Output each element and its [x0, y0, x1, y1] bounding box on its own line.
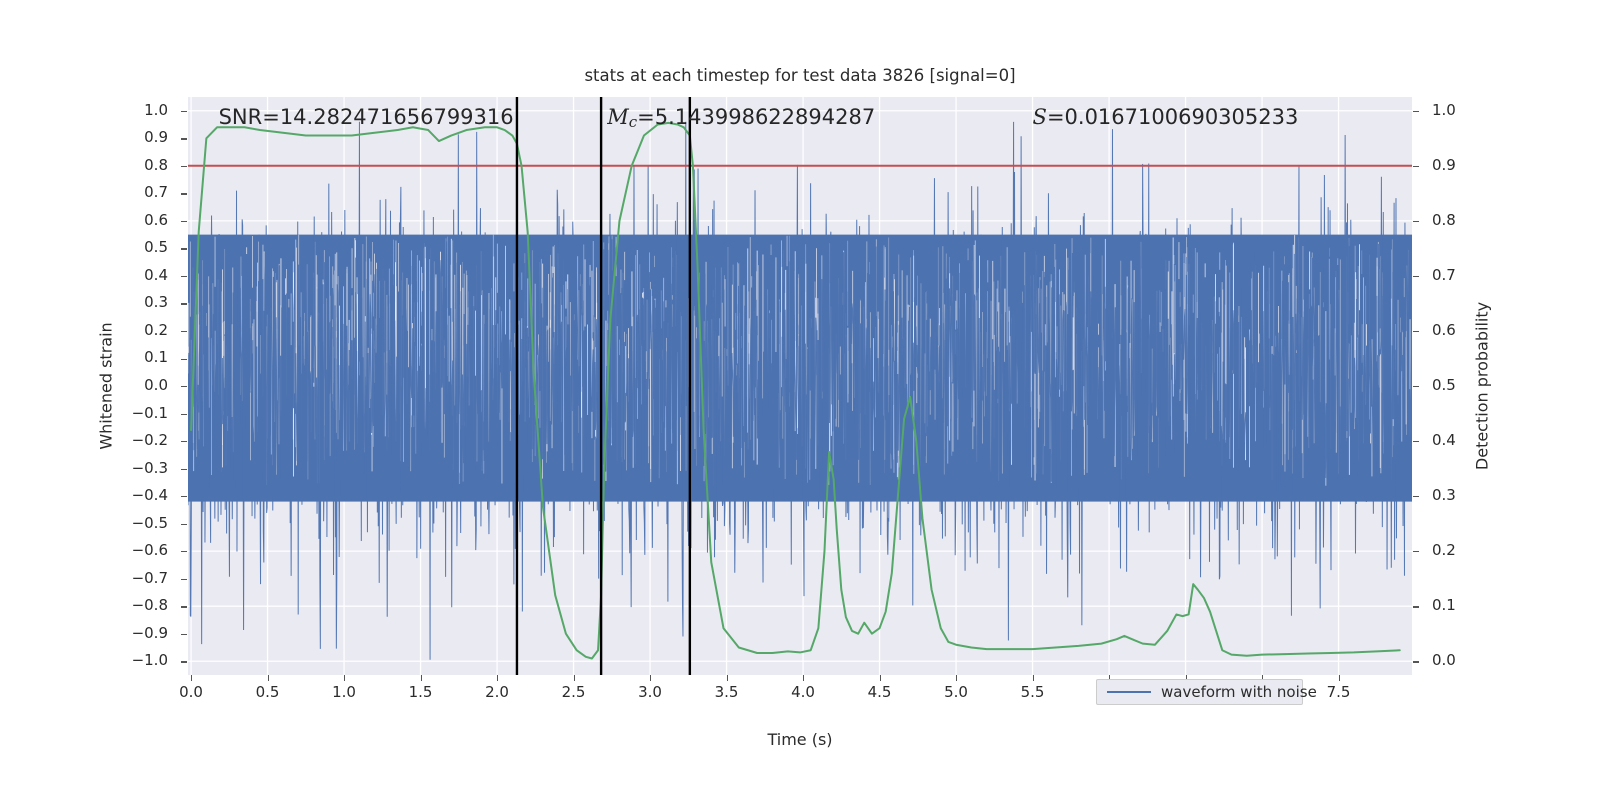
- y-axis-left-tick-mark: [181, 166, 187, 167]
- annotation-s-symbol: S: [1033, 105, 1047, 129]
- x-axis-tick-label: 2.0: [467, 683, 527, 701]
- x-axis-tick-mark: [421, 675, 422, 681]
- y-axis-right-tick-mark: [1413, 551, 1419, 552]
- annotation-snr: SNR=14.282471656799316: [219, 105, 514, 129]
- x-axis-tick-mark: [191, 675, 192, 681]
- x-axis-tick-label: 7.5: [1309, 683, 1369, 701]
- y-axis-right-tick-label: 0.3: [1432, 486, 1488, 504]
- y-axis-left-tick-label: 0.7: [112, 183, 168, 201]
- y-axis-left-tick-label: 0.0: [112, 376, 168, 394]
- x-axis-tick-label: 0.5: [238, 683, 298, 701]
- x-axis-tick-mark: [268, 675, 269, 681]
- y-axis-right-tick-mark: [1413, 661, 1419, 662]
- y-axis-left-tick-label: 0.3: [112, 293, 168, 311]
- y-axis-right-tick-label: 0.4: [1432, 431, 1488, 449]
- y-axis-left-tick-mark: [181, 386, 187, 387]
- y-axis-right-tick-label: 0.6: [1432, 321, 1488, 339]
- y-axis-left-tick-label: 0.1: [112, 348, 168, 366]
- y-axis-right-tick-mark: [1413, 166, 1419, 167]
- y-axis-left-tick-mark: [181, 359, 187, 360]
- y-axis-left-tick-mark: [181, 193, 187, 194]
- y-axis-left-tick-mark: [181, 496, 187, 497]
- y-axis-right-tick-label: 0.7: [1432, 266, 1488, 284]
- y-axis-right-tick-mark: [1413, 331, 1419, 332]
- y-axis-left-tick-label: 0.6: [112, 211, 168, 229]
- y-axis-left-tick-mark: [181, 469, 187, 470]
- x-axis-tick-mark: [344, 675, 345, 681]
- annotation-mc-symbol: M: [607, 105, 629, 129]
- y-axis-left-tick-label: 0.9: [112, 128, 168, 146]
- y-axis-left-tick-label: −0.7: [112, 569, 168, 587]
- x-axis-tick-label: 4.0: [773, 683, 833, 701]
- y-axis-left-tick-label: −0.5: [112, 514, 168, 532]
- x-axis-tick-label: 3.0: [620, 683, 680, 701]
- y-axis-left-tick-label: −1.0: [112, 651, 168, 669]
- y-axis-left-tick-mark: [181, 524, 187, 525]
- y-axis-left-tick-mark: [181, 661, 187, 662]
- y-axis-left-tick-mark: [181, 551, 187, 552]
- y-axis-left-tick-label: −0.3: [112, 459, 168, 477]
- y-axis-left-tick-mark: [181, 248, 187, 249]
- y-axis-left-tick-mark: [181, 634, 187, 635]
- y-axis-left-tick-label: 1.0: [112, 101, 168, 119]
- annotation-chirp-mass: Mc=5.143998622894287: [607, 105, 875, 131]
- annotation-s: S=0.0167100690305233: [1033, 105, 1299, 129]
- x-axis-tick-mark: [650, 675, 651, 681]
- x-axis-tick-mark: [574, 675, 575, 681]
- x-axis-tick-mark: [956, 675, 957, 681]
- x-axis-tick-mark: [880, 675, 881, 681]
- x-axis-tick-label: 5.5: [1003, 683, 1063, 701]
- y-axis-left-tick-label: −0.1: [112, 404, 168, 422]
- x-axis-tick-mark: [1339, 675, 1340, 681]
- y-axis-right-tick-label: 0.0: [1432, 651, 1488, 669]
- y-axis-left-tick-label: 0.8: [112, 156, 168, 174]
- y-axis-right-tick-label: 0.5: [1432, 376, 1488, 394]
- x-axis-label: Time (s): [188, 730, 1412, 749]
- y-axis-right-tick-mark: [1413, 276, 1419, 277]
- x-axis-tick-mark: [1033, 675, 1034, 681]
- plot-axes: [188, 97, 1412, 675]
- legend-label: waveform with noise: [1161, 683, 1317, 701]
- y-axis-left-tick-mark: [181, 441, 187, 442]
- matplotlib-figure: stats at each timestep for test data 382…: [0, 0, 1600, 800]
- y-axis-right-tick-label: 0.1: [1432, 596, 1488, 614]
- annotation-mc-value: =5.143998622894287: [637, 105, 875, 129]
- chart-title: stats at each timestep for test data 382…: [188, 66, 1412, 85]
- y-axis-left-tick-mark: [181, 331, 187, 332]
- legend: waveform with noise: [1096, 679, 1303, 705]
- y-axis-left-tick-label: −0.4: [112, 486, 168, 504]
- y-axis-left-tick-label: −0.8: [112, 596, 168, 614]
- y-axis-left-tick-label: 0.5: [112, 238, 168, 256]
- y-axis-left-tick-label: 0.2: [112, 321, 168, 339]
- x-axis-tick-label: 5.0: [926, 683, 986, 701]
- y-axis-left-tick-mark: [181, 111, 187, 112]
- x-axis-tick-mark: [727, 675, 728, 681]
- y-axis-right-tick-mark: [1413, 386, 1419, 387]
- y-axis-left-tick-mark: [181, 221, 187, 222]
- y-axis-left-tick-label: −0.2: [112, 431, 168, 449]
- x-axis-tick-label: 3.5: [697, 683, 757, 701]
- x-axis-tick-label: 1.5: [391, 683, 451, 701]
- x-axis-tick-label: 1.0: [314, 683, 374, 701]
- y-axis-left-tick-mark: [181, 579, 187, 580]
- annotation-s-value: =0.0167100690305233: [1047, 105, 1298, 129]
- x-axis-tick-label: 4.5: [850, 683, 910, 701]
- y-axis-left-tick-mark: [181, 606, 187, 607]
- y-axis-right-tick-label: 0.8: [1432, 211, 1488, 229]
- y-axis-right-tick-mark: [1413, 606, 1419, 607]
- y-axis-left-tick-mark: [181, 276, 187, 277]
- y-axis-left-tick-mark: [181, 414, 187, 415]
- x-axis-tick-label: 2.5: [544, 683, 604, 701]
- y-axis-left-tick-label: −0.9: [112, 624, 168, 642]
- annotation-mc-subscript: c: [629, 113, 637, 131]
- y-axis-right-tick-mark: [1413, 221, 1419, 222]
- y-axis-right-tick-label: 0.9: [1432, 156, 1488, 174]
- x-axis-tick-mark: [497, 675, 498, 681]
- y-axis-right-tick-label: 0.2: [1432, 541, 1488, 559]
- y-axis-right-tick-label: 1.0: [1432, 101, 1488, 119]
- x-axis-tick-label: 0.0: [161, 683, 221, 701]
- y-axis-left-tick-mark: [181, 303, 187, 304]
- y-axis-right-tick-mark: [1413, 111, 1419, 112]
- y-axis-left-tick-label: 0.4: [112, 266, 168, 284]
- x-axis-tick-mark: [803, 675, 804, 681]
- y-axis-right-tick-mark: [1413, 441, 1419, 442]
- y-axis-left-tick-mark: [181, 138, 187, 139]
- legend-line-swatch: [1107, 691, 1151, 693]
- y-axis-left-tick-label: −0.6: [112, 541, 168, 559]
- y-axis-right-tick-mark: [1413, 496, 1419, 497]
- event-marker-lines: [188, 97, 1412, 675]
